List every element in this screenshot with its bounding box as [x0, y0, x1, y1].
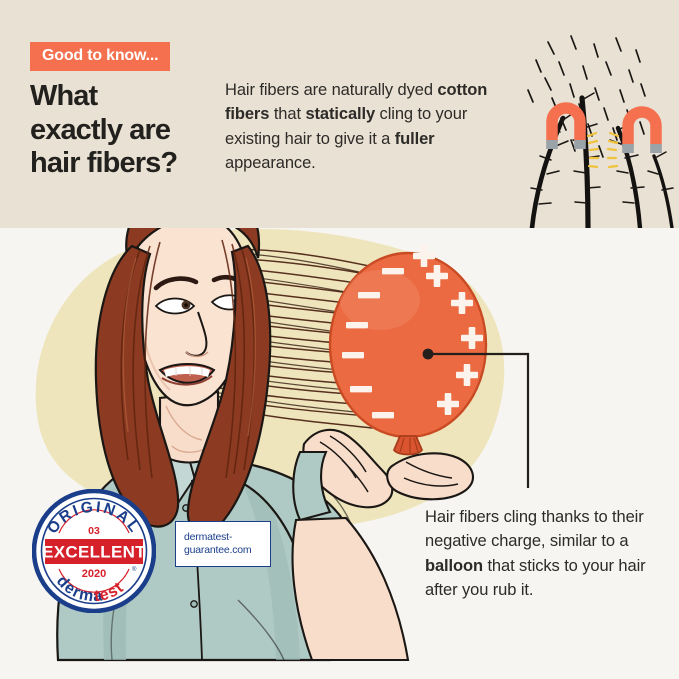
url-line-2: guarantee.com: [176, 544, 270, 557]
url-line-1: dermatest-: [176, 522, 270, 544]
seal-registered-mark: ®: [132, 566, 137, 573]
good-to-know-badge: Good to know...: [30, 42, 170, 71]
infographic-poster: Good to know... What exactly are hair fi…: [0, 0, 679, 679]
page-title: What exactly are hair fibers?: [30, 80, 230, 181]
headline-line-1: What: [30, 80, 230, 114]
dermatest-seal: ORIGINAL 03 EXCELLENT 2020 derma test ®: [32, 489, 156, 613]
seal-rating: EXCELLENT: [42, 543, 146, 562]
seal-number: 03: [88, 525, 100, 537]
dermatest-url-box[interactable]: dermatest- guarantee.com: [175, 521, 271, 567]
seal-year: 2020: [82, 568, 106, 580]
headline-line-2: exactly are: [30, 114, 230, 148]
intro-paragraph: Hair fibers are naturally dyed cotton fi…: [225, 78, 525, 175]
headline-line-3: hair fibers?: [30, 147, 230, 181]
balloon-caption: Hair fibers cling thanks to their negati…: [425, 505, 660, 602]
